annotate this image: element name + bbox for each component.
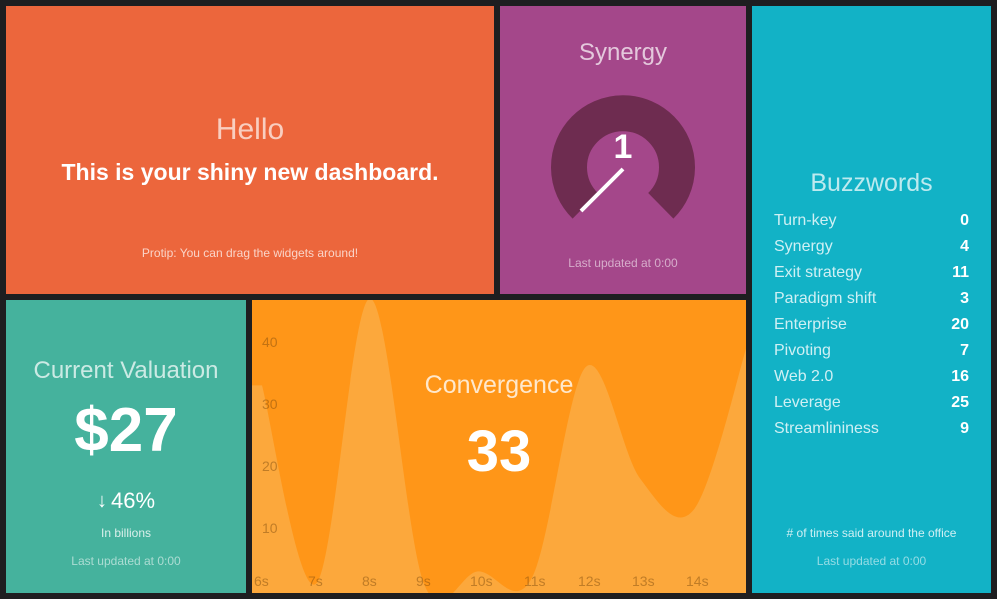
list-item: Paradigm shift3 <box>774 286 969 312</box>
buzzwords-footer: # of times said around the office Last u… <box>752 513 991 581</box>
welcome-title: Hello <box>216 113 284 148</box>
list-item: Web 2.016 <box>774 364 969 390</box>
valuation-title: Current Valuation <box>34 358 219 384</box>
list-item-value: 0 <box>960 208 969 234</box>
gauge-value: 1 <box>528 130 718 164</box>
chart-x-tick: 7s <box>308 573 323 589</box>
list-item-label: Turn-key <box>774 208 837 234</box>
list-item: Pivoting7 <box>774 338 969 364</box>
chart-area-path <box>252 300 746 593</box>
gauge-updated-at: Last updated at 0:00 <box>500 256 746 270</box>
buzzwords-list: Turn-key0Synergy4Exit strategy11Paradigm… <box>774 208 969 442</box>
list-item-value: 3 <box>960 286 969 312</box>
chart-x-tick: 14s <box>686 573 709 589</box>
widget-buzzwords[interactable]: Buzzwords Turn-key0Synergy4Exit strategy… <box>752 6 991 593</box>
chart-x-tick: 13s <box>632 573 655 589</box>
list-item-label: Leverage <box>774 390 841 416</box>
list-item-label: Synergy <box>774 234 833 260</box>
buzzwords-title: Buzzwords <box>752 170 991 198</box>
valuation-change-rate: 46% <box>111 489 155 513</box>
chart-y-tick: 10 <box>262 520 278 536</box>
widget-gauge[interactable]: Synergy 1 Last updated at 0:00 <box>500 6 746 294</box>
chart-y-tick: 20 <box>262 458 278 474</box>
list-item-label: Exit strategy <box>774 260 862 286</box>
list-item-value: 4 <box>960 234 969 260</box>
list-item-label: Enterprise <box>774 312 847 338</box>
chart-x-tick: 6s <box>254 573 269 589</box>
chart-area-series <box>252 300 746 593</box>
list-item: Turn-key0 <box>774 208 969 234</box>
gauge-dial: 1 <box>528 74 718 234</box>
valuation-change: ↓ 46% <box>97 489 155 513</box>
chart-x-tick: 10s <box>470 573 493 589</box>
list-item-value: 7 <box>960 338 969 364</box>
chart-x-tick: 9s <box>416 573 431 589</box>
list-item-value: 25 <box>951 390 969 416</box>
widget-welcome[interactable]: Hello This is your shiny new dashboard. … <box>6 6 494 294</box>
list-item: Enterprise20 <box>774 312 969 338</box>
gauge-title: Synergy <box>579 40 667 66</box>
convergence-chart: 10203040 6s7s8s9s10s11s12s13s14s <box>252 300 746 593</box>
list-item-value: 16 <box>951 364 969 390</box>
list-item: Leverage25 <box>774 390 969 416</box>
welcome-protip: Protip: You can drag the widgets around! <box>6 246 494 260</box>
chart-y-tick: 40 <box>262 334 278 350</box>
chart-x-tick: 12s <box>578 573 601 589</box>
list-item: Streamlininess9 <box>774 416 969 442</box>
list-item-value: 9 <box>960 416 969 442</box>
valuation-value: $27 <box>74 398 177 463</box>
chart-y-tick: 30 <box>262 396 278 412</box>
list-item-value: 11 <box>952 260 969 286</box>
list-item-label: Web 2.0 <box>774 364 833 390</box>
chart-x-tick: 11s <box>524 573 546 589</box>
list-item-label: Streamlininess <box>774 416 879 442</box>
buzzwords-more-info: # of times said around the office <box>752 525 991 541</box>
list-item-value: 20 <box>951 312 969 338</box>
list-item: Synergy4 <box>774 234 969 260</box>
arrow-down-icon: ↓ <box>97 491 107 511</box>
buzzwords-updated-at: Last updated at 0:00 <box>752 553 991 569</box>
valuation-updated-at: Last updated at 0:00 <box>6 553 246 569</box>
dashboard-root: Hello This is your shiny new dashboard. … <box>0 0 997 599</box>
widget-current-valuation[interactable]: Current Valuation $27 ↓ 46% In billions … <box>6 300 246 593</box>
chart-x-tick: 8s <box>362 573 377 589</box>
chart-x-axis-labels: 6s7s8s9s10s11s12s13s14s <box>254 573 709 589</box>
widget-convergence[interactable]: 10203040 6s7s8s9s10s11s12s13s14s Converg… <box>252 300 746 593</box>
list-item: Exit strategy11 <box>774 260 969 286</box>
valuation-more-info: In billions <box>6 525 246 541</box>
list-item-label: Paradigm shift <box>774 286 876 312</box>
valuation-footer: In billions Last updated at 0:00 <box>6 513 246 581</box>
list-item-label: Pivoting <box>774 338 831 364</box>
welcome-subtitle: This is your shiny new dashboard. <box>61 159 438 187</box>
